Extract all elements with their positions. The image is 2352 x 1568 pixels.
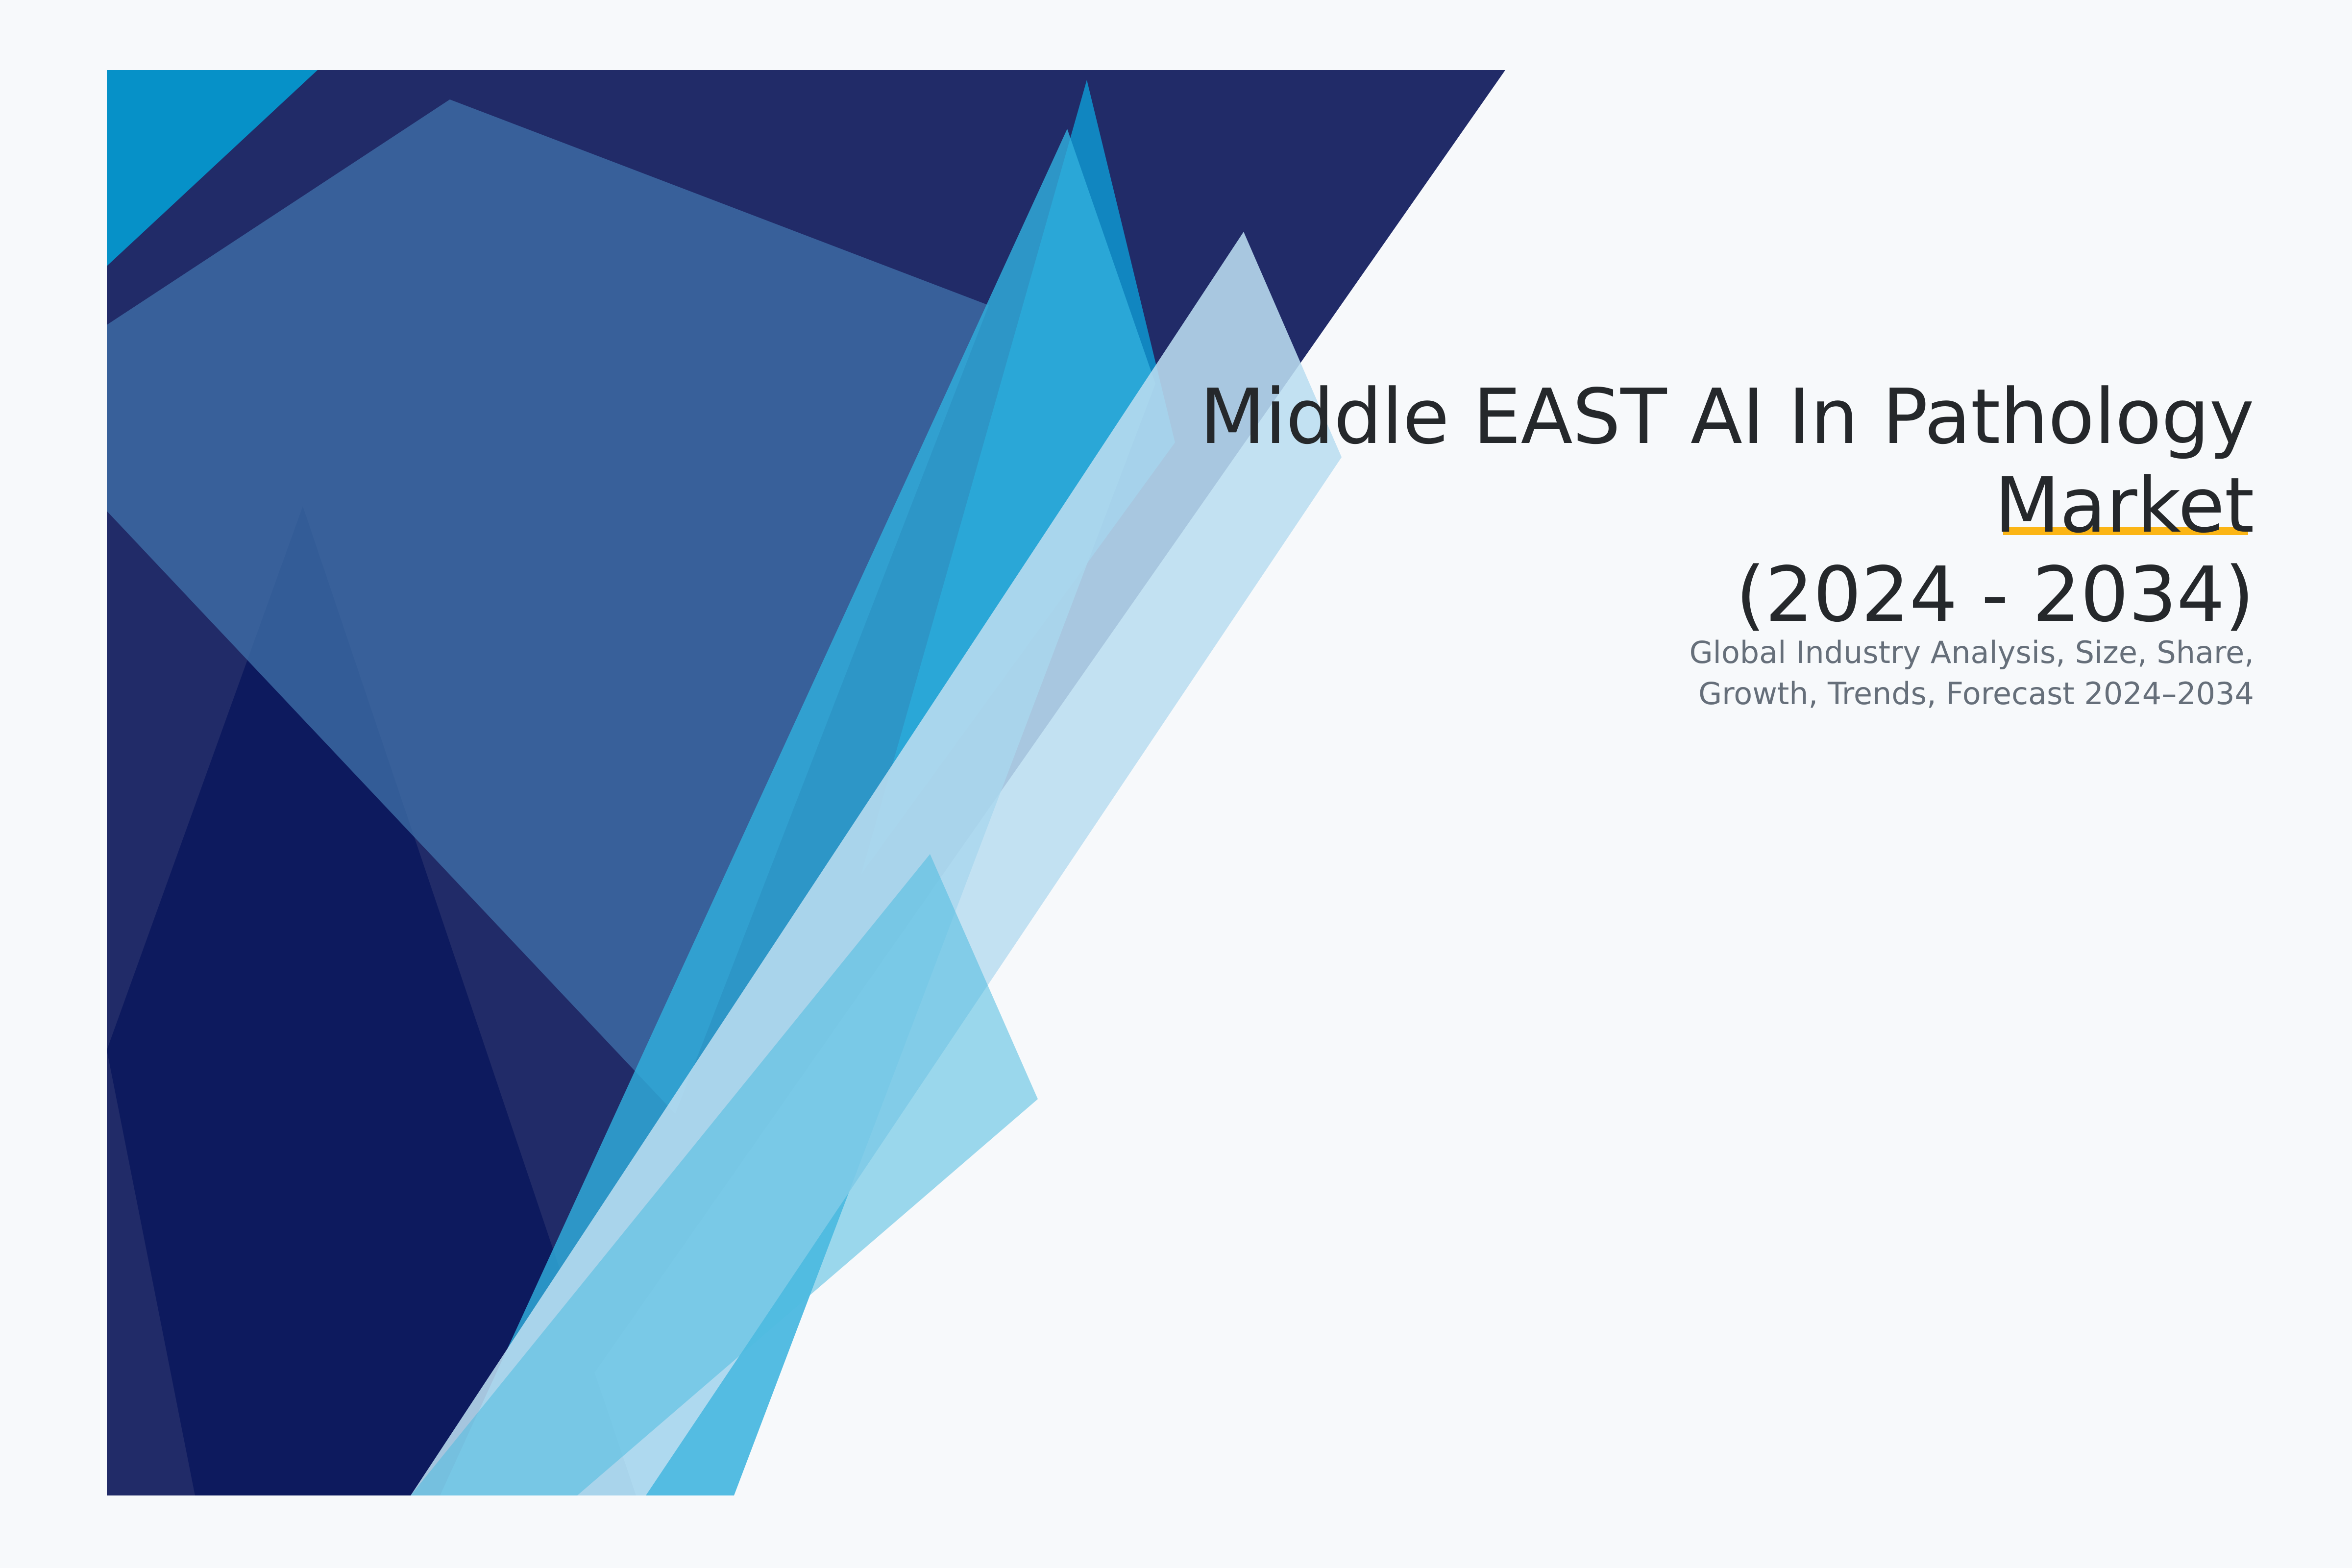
artwork-panel — [107, 70, 1508, 1495]
report-cover: Middle EAST AI In Pathology Market (2024… — [0, 0, 2352, 1568]
cover-text-block: Middle EAST AI In Pathology Market (2024… — [921, 372, 2254, 639]
page-title: Middle EAST AI In Pathology Market (2024… — [921, 372, 2254, 639]
geometric-artwork — [107, 70, 1508, 1495]
page-subtitle: Global Industry Analysis, Size, Share, G… — [1274, 632, 2254, 714]
